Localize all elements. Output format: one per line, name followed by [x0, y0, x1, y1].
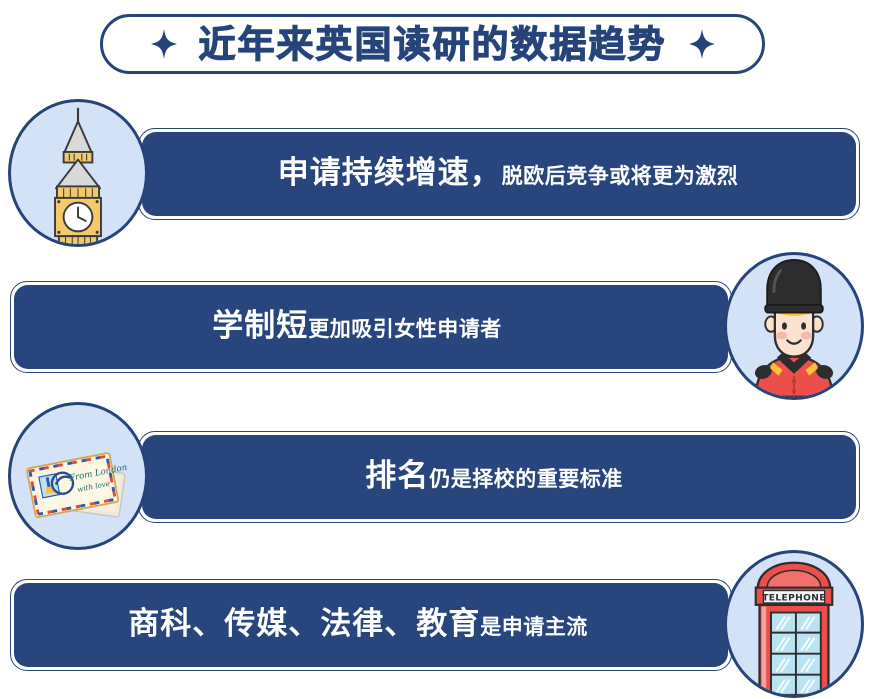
sparkle-icon [689, 29, 715, 59]
telephone-box-icon: TELEPHONE [724, 550, 864, 698]
telephone-sign-label: TELEPHONE [762, 594, 826, 604]
row-text: 商科、传媒、法律、教育是申请主流 [14, 609, 728, 642]
row-text-emphasis: 申请持续增速， [278, 155, 502, 191]
row-text: 申请持续增速，脱欧后竞争或将更为激烈 [142, 158, 856, 191]
row-text: 排名仍是择校的重要标准 [142, 461, 856, 494]
row-bar[interactable]: 学制短更加吸引女性申请者 [14, 285, 728, 369]
row-text-detail: 仍是择校的重要标准 [429, 467, 623, 491]
row-text-emphasis: 排名 [365, 458, 429, 494]
row-text-emphasis: 商科、传媒、法律、教育 [128, 606, 480, 642]
list-item: 学制短更加吸引女性申请者 [0, 250, 870, 400]
list-item: 排名仍是择校的重要标准 [0, 400, 870, 550]
row-bar[interactable]: 申请持续增速，脱欧后竞争或将更为激烈 [142, 132, 856, 216]
sparkle-icon [151, 29, 177, 59]
list-item: 商科、传媒、法律、教育是申请主流 TELEPHONE [0, 548, 870, 698]
postcard-icon: From London with love [8, 402, 148, 550]
royal-guard-icon [724, 252, 864, 400]
row-text-detail: 是申请主流 [480, 615, 588, 639]
row-text-emphasis: 学制短 [212, 308, 308, 344]
list-item: 申请持续增速，脱欧后竞争或将更为激烈 [0, 97, 870, 247]
row-text: 学制短更加吸引女性申请者 [14, 311, 728, 344]
row-bar[interactable]: 商科、传媒、法律、教育是申请主流 [14, 583, 728, 667]
row-text-detail: 更加吸引女性申请者 [308, 317, 502, 341]
row-bar[interactable]: 排名仍是择校的重要标准 [142, 435, 856, 519]
page-title: 近年来英国读研的数据趋势 [199, 26, 667, 63]
row-text-detail: 脱欧后竞争或将更为激烈 [502, 164, 739, 188]
big-ben-icon [8, 99, 148, 247]
page-title-banner: 近年来英国读研的数据趋势 [100, 14, 765, 74]
